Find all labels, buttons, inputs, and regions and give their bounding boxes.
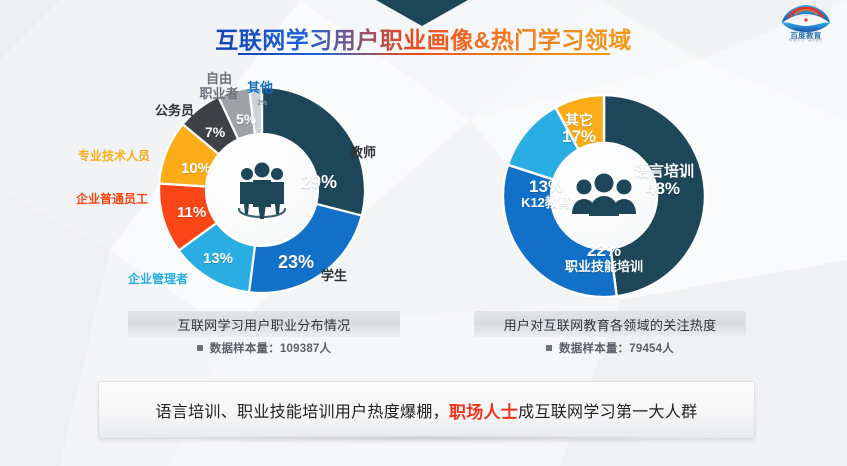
label-language-training-text: 语言培训	[634, 163, 694, 180]
pct-vocational-training: 22%	[587, 241, 621, 260]
left-sample-size-text: 数据样本量：109387人	[210, 340, 331, 356]
pct-student: 23%	[278, 253, 314, 272]
field-interest-donut-chart: 语言培训 48% 22% 职业技能培训 13% K12教育 其它 17%	[497, 90, 712, 302]
label-teacher: 教师	[350, 146, 376, 161]
conclusion-prefix: 语言培训、职业技能培训用户热度爆棚，	[156, 398, 449, 422]
title-underline	[238, 53, 610, 55]
pct-other-field: 17%	[562, 127, 596, 146]
label-staff-manager: 企业管理者	[128, 273, 188, 286]
label-language-training: 语言培训 48%	[634, 164, 692, 198]
right-sample-size-text: 数据样本量：79454人	[559, 340, 674, 356]
conclusion-shadow	[120, 436, 730, 444]
pct-staff-manager: 13%	[203, 251, 233, 267]
left-sample-size: 数据样本量：109387人	[128, 340, 400, 356]
page-title: 互联网学习用户职业画像&热门学习领域	[0, 28, 847, 53]
pct-k12-education: 13%	[529, 177, 563, 196]
donut-center-hub-left	[208, 136, 316, 244]
bullet-square-left	[197, 345, 203, 351]
label-student: 学生	[321, 269, 347, 284]
label-vocational-training-text: 职业技能培训	[565, 259, 643, 274]
pct-regular-employee: 11%	[177, 205, 206, 221]
bullet-square-right	[546, 345, 552, 351]
label-vocational-training: 22% 职业技能培训	[544, 242, 664, 273]
conclusion-banner: 语言培训、职业技能培训用户热度爆棚，职场人士成互联网学习第一大人群	[98, 381, 755, 439]
label-k12-education: 13% K12教育	[507, 178, 585, 209]
left-caption-bar: 互联网学习用户职业分布情况	[128, 311, 400, 337]
right-sample-size: 数据样本量：79454人	[474, 340, 746, 356]
baidu-education-logo[interactable]: 百度教育 精准学习 · 高效提分	[770, 1, 842, 41]
label-other: 其他	[247, 81, 273, 96]
label-k12-education-text: K12教育	[521, 195, 571, 210]
pct-teacher: 29%	[301, 173, 337, 192]
label-civil-servant: 公务员	[155, 104, 194, 119]
people-group-icon	[231, 161, 293, 219]
pct-language-training: 48%	[646, 179, 680, 198]
conclusion-suffix: 成互联网学习第一大人群	[518, 398, 697, 422]
label-other-field: 其它 17%	[549, 113, 609, 146]
label-professional-technician: 专业技术人员	[78, 150, 150, 163]
pct-freelancer: 5%	[236, 112, 256, 127]
pct-civil-servant: 7%	[205, 125, 225, 140]
page-title-text: 互联网学习用户职业画像&热门学习领域	[215, 28, 632, 53]
infographic-canvas: 互联网学习用户职业画像&热门学习领域 百度教育 精准学习 · 高效提分	[0, 0, 847, 466]
label-other-field-text: 其它	[565, 112, 593, 128]
down-arrow-icon	[376, 0, 468, 26]
label-regular-employee: 企业普通员工	[76, 193, 148, 206]
pct-professional-technician: 10%	[181, 161, 211, 177]
label-freelancer: 自由职业者	[196, 72, 242, 101]
pct-other: 2%	[257, 100, 267, 107]
logo-subtext: 精准学习 · 高效提分	[770, 38, 842, 43]
right-caption-bar: 用户对互联网教育各领域的关注热度	[474, 311, 746, 337]
conclusion-highlight: 职场人士	[449, 398, 518, 423]
